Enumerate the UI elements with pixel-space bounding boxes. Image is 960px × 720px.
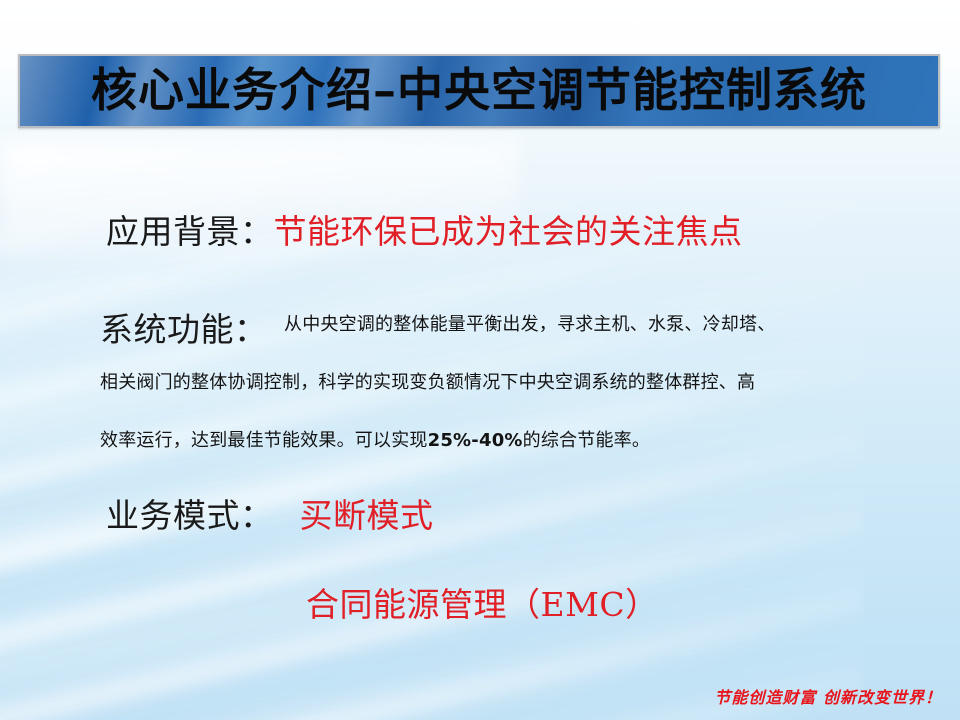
section-function-label: 系统功能： (100, 303, 268, 351)
footer-slogan: 节能创造财富 创新改变世界！ (714, 684, 942, 708)
slide-title-banner: 核心业务介绍–中央空调节能控制系统 (18, 54, 940, 128)
slide-canvas: 核心业务介绍–中央空调节能控制系统 应用背景：节能环保已成为社会的关注焦点 系统… (0, 0, 960, 720)
function-line-2: 相关阀门的整体协调控制，科学的实现变负额情况下中央空调系统的整体群控、高 (100, 368, 755, 394)
business-mode-value-2: 合同能源管理（EMC） (306, 585, 659, 624)
function-line-3-prefix: 效率运行，达到最佳节能效果。可以实现 (100, 430, 428, 451)
business-mode-label: 业务模式： (106, 496, 274, 535)
page-title: 核心业务介绍–中央空调节能控制系统 (91, 67, 867, 113)
section-background: 应用背景：节能环保已成为社会的关注焦点 (106, 205, 743, 253)
function-line-3-suffix: 的综合节能率。 (523, 430, 650, 451)
section-business-mode-emc: 合同能源管理（EMC） (306, 578, 659, 626)
function-label: 系统功能： (100, 310, 268, 349)
function-line-3: 效率运行，达到最佳节能效果。可以实现25%-40%的综合节能率。 (100, 426, 650, 452)
business-mode-value-1: 买断模式 (274, 496, 434, 535)
background-label: 应用背景： (106, 212, 274, 251)
function-line-1: 从中央空调的整体能量平衡出发，寻求主机、水泵、冷却塔、 (284, 310, 775, 336)
background-value: 节能环保已成为社会的关注焦点 (274, 212, 743, 251)
energy-saving-rate: 25%-40% (428, 430, 523, 451)
section-business-mode: 业务模式：买断模式 (106, 489, 434, 537)
